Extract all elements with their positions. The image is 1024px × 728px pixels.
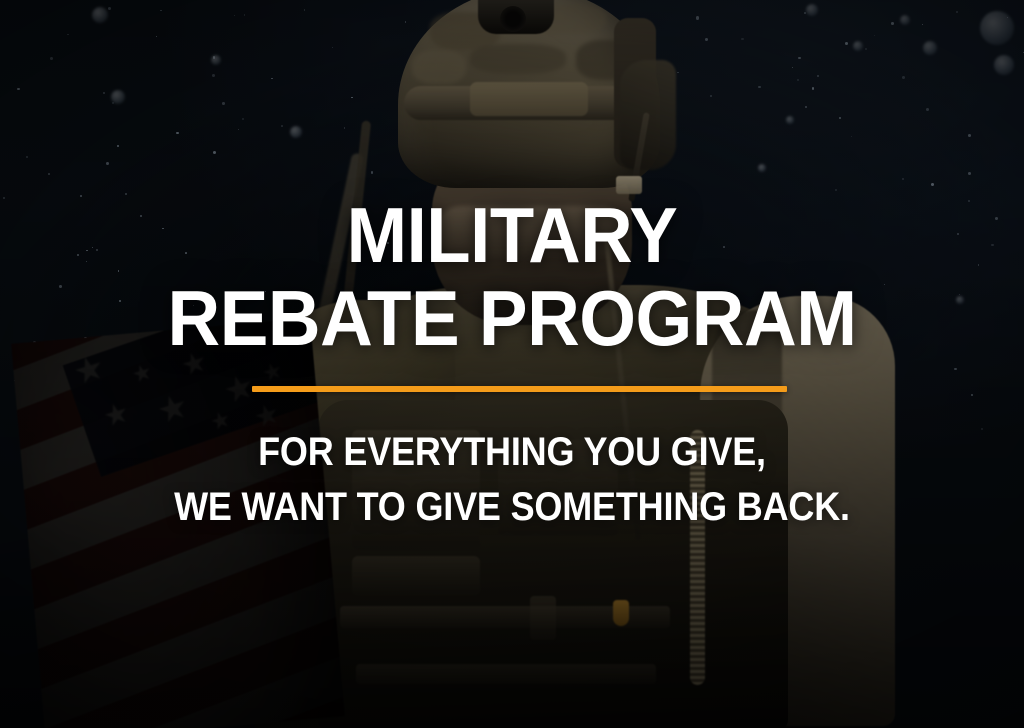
subheadline-line-1: FOR EVERYTHING YOU GIVE, (51, 432, 973, 472)
military-rebate-banner: ★★★★★★★★★ MILITARY REBATE PROGRAM FOR EV… (0, 0, 1024, 728)
banner-content: MILITARY REBATE PROGRAM FOR EVERYTHING Y… (0, 0, 1024, 728)
orange-divider-rule (252, 386, 787, 392)
headline-line-1: MILITARY (36, 200, 988, 272)
subheadline-line-2: WE WANT TO GIVE SOMETHING BACK. (51, 487, 973, 527)
headline-line-2: REBATE PROGRAM (33, 283, 990, 355)
